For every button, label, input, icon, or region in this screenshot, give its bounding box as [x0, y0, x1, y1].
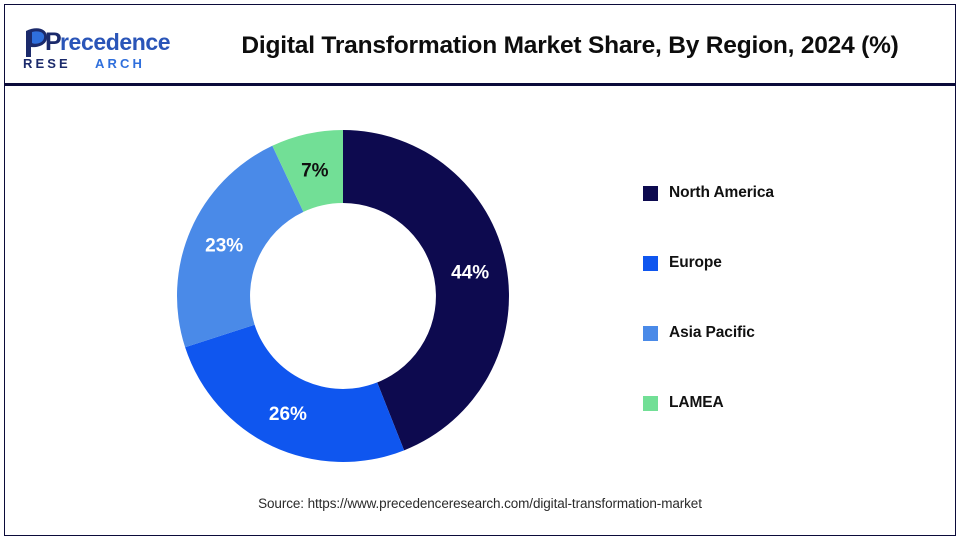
- legend-item-lamea[interactable]: LAMEA: [643, 368, 903, 438]
- donut-chart-svg: 44% 26% 23% 7%: [172, 125, 514, 467]
- chart-body: 44% 26% 23% 7% North America Europe Asia…: [5, 86, 955, 490]
- svg-text:RESE: RESE: [23, 56, 71, 71]
- svg-text:ARCH: ARCH: [95, 56, 145, 71]
- legend-item-asia-pacific[interactable]: Asia Pacific: [643, 298, 903, 368]
- svg-text:recedence: recedence: [60, 29, 170, 55]
- precedence-research-logo: P recedence RESE ARCH: [19, 23, 179, 75]
- legend-swatch-icon: [643, 326, 658, 341]
- slice-value-europe: 26%: [269, 404, 307, 425]
- slice-value-lamea: 7%: [301, 161, 329, 182]
- source-caption: Source: https://www.precedenceresearch.c…: [5, 496, 955, 511]
- legend-label: Europe: [669, 254, 722, 272]
- legend-label: LAMEA: [669, 394, 724, 412]
- donut-slice-europe[interactable]: [185, 325, 404, 462]
- chart-header: P recedence RESE ARCH Digital Transforma…: [5, 5, 955, 85]
- legend-swatch-icon: [643, 186, 658, 201]
- slice-value-asia-pacific: 23%: [205, 236, 243, 257]
- legend-item-europe[interactable]: Europe: [643, 228, 903, 298]
- chart-legend: North America Europe Asia Pacific LAMEA: [643, 158, 903, 438]
- legend-swatch-icon: [643, 256, 658, 271]
- legend-label: Asia Pacific: [669, 324, 755, 342]
- chart-page: P recedence RESE ARCH Digital Transforma…: [0, 0, 960, 540]
- legend-label: North America: [669, 184, 774, 202]
- svg-text:P: P: [45, 28, 61, 56]
- slice-value-north-america: 44%: [451, 263, 489, 284]
- legend-swatch-icon: [643, 396, 658, 411]
- legend-item-north-america[interactable]: North America: [643, 158, 903, 228]
- page-title: Digital Transformation Market Share, By …: [190, 5, 950, 88]
- donut-chart: 44% 26% 23% 7%: [172, 125, 514, 467]
